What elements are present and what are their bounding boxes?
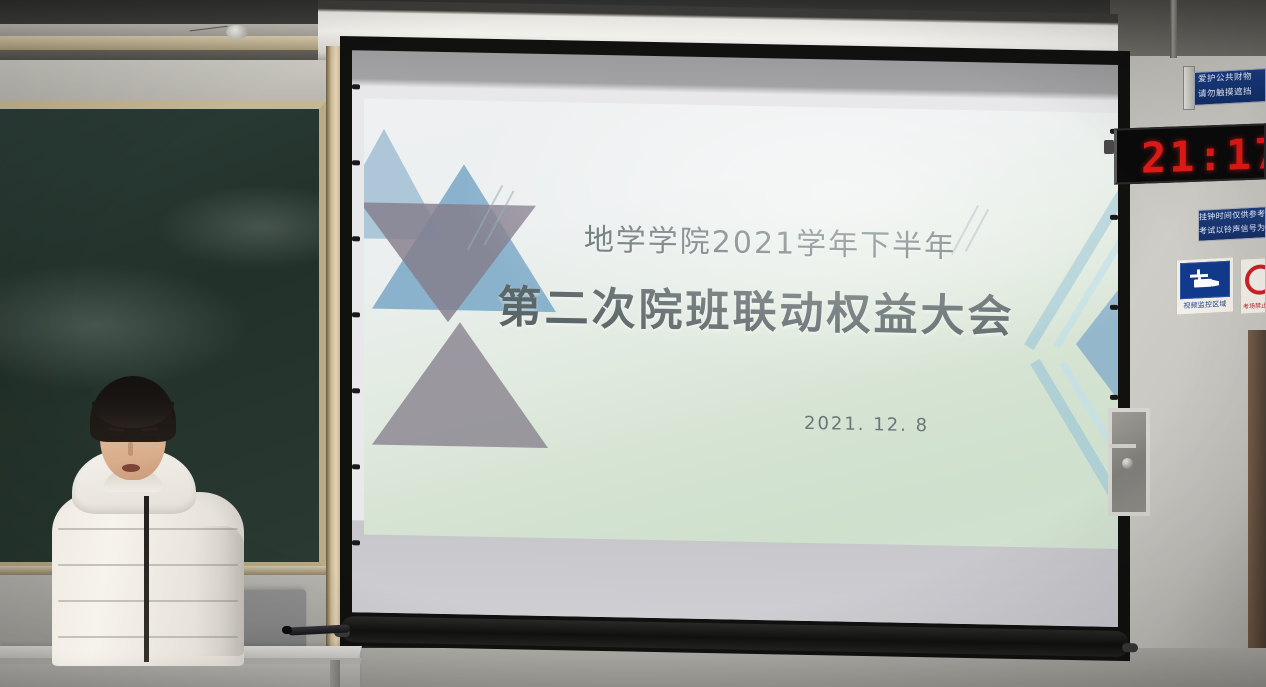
- wall-pipe: [1170, 0, 1177, 58]
- presenting-student: [52, 376, 252, 666]
- video-surveillance-sign: 视频监控区域: [1176, 256, 1234, 315]
- screen-tension-tick: [352, 236, 360, 241]
- jacket-arm-shading: [194, 526, 244, 656]
- screen-pull-rod-tip: [282, 626, 292, 634]
- care-sign-line-2: 请勿触摸遮挡: [1195, 84, 1265, 103]
- screen-tension-tick: [352, 388, 360, 393]
- mouth: [122, 464, 140, 472]
- screen-tension-tick: [1110, 305, 1118, 310]
- screen-tension-tick: [1110, 395, 1118, 400]
- projected-slide: 地学学院2021学年下半年 第二次院班联动权益大会 2021. 12. 8: [364, 98, 1118, 549]
- screen-tension-tick: [352, 84, 360, 89]
- ceiling-light-fixture: [226, 25, 248, 39]
- screen-tension-tick: [352, 540, 360, 545]
- eye-left: [109, 436, 123, 441]
- nose: [128, 442, 133, 456]
- slide-date: 2021. 12. 8: [804, 413, 929, 436]
- slide-shape-gray-triangle-down: [372, 321, 548, 448]
- prohibition-circle-icon: [1245, 264, 1266, 296]
- screen-tension-tick: [1110, 215, 1118, 220]
- classroom-scene: HDTV: [0, 0, 1266, 687]
- led-wall-clock: 21:17: [1114, 123, 1266, 184]
- projector-screen: 地学学院2021学年下半年 第二次院班联动权益大会 2021. 12. 8: [340, 36, 1130, 661]
- clock-time-display: 21:17: [1141, 129, 1266, 183]
- lectern-desk-leg: [330, 660, 340, 687]
- right-wall-dark-edge: [1248, 330, 1266, 687]
- care-of-property-sign: 爱护公共财物 请勿触摸遮挡: [1194, 68, 1266, 106]
- screen-bar-endcap-right: [1122, 643, 1138, 652]
- exam-sign-line-2: 考试以铃声信号为准: [1199, 221, 1265, 238]
- exam-bell-notice-sign: 挂钟时间仅供参考 考试以铃声信号为准: [1198, 206, 1266, 242]
- slide-title-line-2: 第二次院班联动权益大会: [426, 270, 1086, 347]
- projection-surface: 地学学院2021学年下半年 第二次院班联动权益大会 2021. 12. 8: [352, 50, 1118, 627]
- surveillance-sign-label: 视频监控区域: [1180, 299, 1230, 312]
- clock-mount: [1104, 140, 1114, 154]
- cabinet-lock-knob[interactable]: [1122, 458, 1133, 469]
- surveillance-camera-icon: [1180, 261, 1230, 300]
- cabinet-handle-bar: [1110, 444, 1136, 448]
- eye-right: [142, 436, 156, 441]
- screen-tension-tick: [352, 312, 360, 317]
- prohibition-sign: 考场禁止: [1240, 257, 1266, 314]
- right-wall-upper-shadow: [1110, 0, 1266, 56]
- screen-tension-tick: [352, 160, 360, 165]
- blackboard-top-frame: [0, 36, 332, 50]
- prohibition-sign-label: 考场禁止: [1243, 300, 1266, 310]
- jacket-zipper: [144, 496, 149, 662]
- screen-tension-tick: [352, 464, 360, 469]
